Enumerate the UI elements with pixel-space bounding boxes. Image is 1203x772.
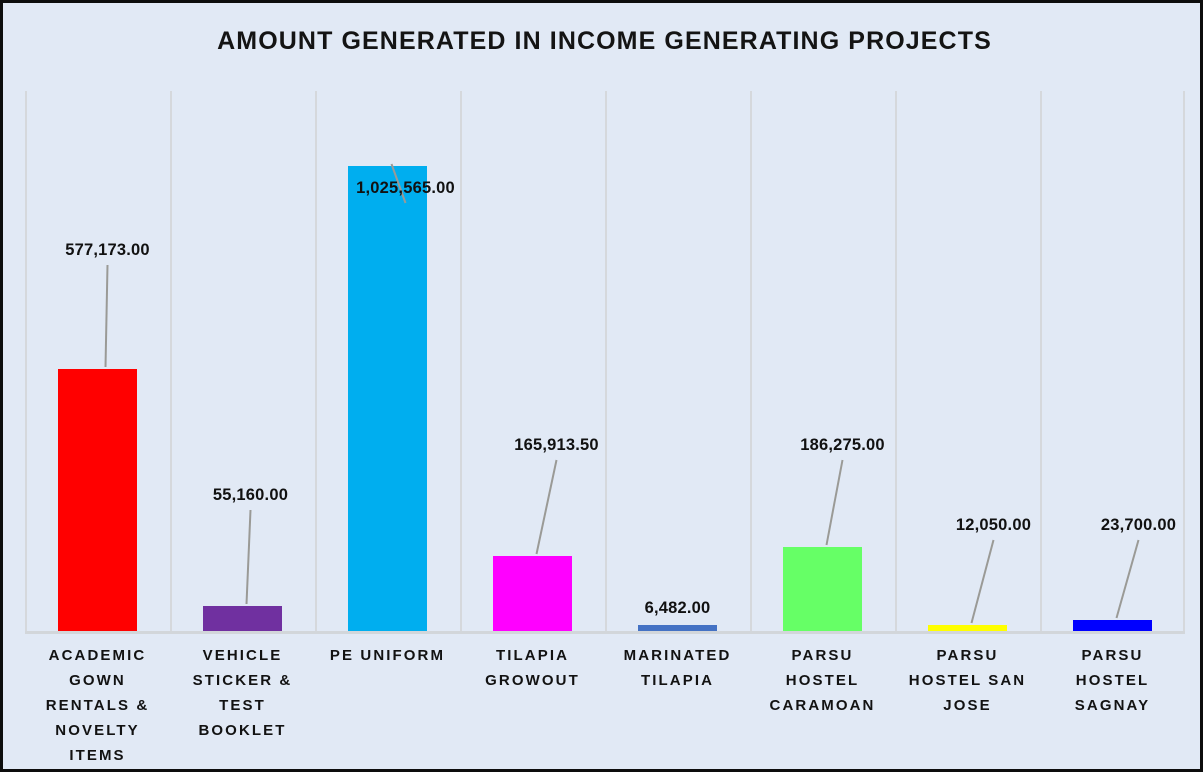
gridline (315, 91, 317, 631)
category-label-line: PE UNIFORM (315, 643, 460, 668)
category-label-line: TILAPIA (605, 668, 750, 693)
chart-title: AMOUNT GENERATED IN INCOME GENERATING PR… (3, 27, 1203, 56)
category-label: PARSUHOSTELCARAMOAN (750, 643, 895, 718)
chart-container: AMOUNT GENERATED IN INCOME GENERATING PR… (0, 0, 1203, 772)
bar[interactable] (493, 556, 572, 631)
category-label-line: HOSTEL SAN (895, 668, 1040, 693)
category-label-line: RENTALS & (25, 693, 170, 718)
gridline (25, 91, 27, 631)
category-label: TILAPIAGROWOUT (460, 643, 605, 693)
category-label-line: STICKER & (170, 668, 315, 693)
category-label-line: TILAPIA (460, 643, 605, 668)
gridline (895, 91, 897, 631)
category-label-line: VEHICLE (170, 643, 315, 668)
category-label-line: PARSU (895, 643, 1040, 668)
data-label: 6,482.00 (613, 599, 743, 618)
gridline (1040, 91, 1042, 631)
category-label: PE UNIFORM (315, 643, 460, 668)
bar[interactable] (638, 625, 717, 631)
bar[interactable] (783, 547, 862, 631)
bar[interactable] (1073, 620, 1152, 631)
category-label-line: GOWN (25, 668, 170, 693)
bar[interactable] (928, 625, 1007, 631)
category-label-line: NOVELTY (25, 718, 170, 743)
bar[interactable] (348, 166, 427, 631)
gridline (1183, 91, 1185, 631)
gridline (170, 91, 172, 631)
gridline (750, 91, 752, 631)
category-label-line: GROWOUT (460, 668, 605, 693)
category-label-line: ITEMS (25, 743, 170, 768)
category-label: VEHICLESTICKER &TESTBOOKLET (170, 643, 315, 743)
category-label-line: HOSTEL (1040, 668, 1185, 693)
plot-area: 577,173.0055,160.001,025,565.00165,913.5… (25, 91, 1185, 633)
data-label: 577,173.00 (43, 241, 173, 260)
category-label: ACADEMICGOWNRENTALS &NOVELTYITEMS (25, 643, 170, 768)
data-label: 23,700.00 (1074, 516, 1203, 535)
category-label-line: ACADEMIC (25, 643, 170, 668)
category-label-line: JOSE (895, 693, 1040, 718)
gridline (460, 91, 462, 631)
data-label: 186,275.00 (778, 436, 908, 455)
category-label-line: PARSU (750, 643, 895, 668)
category-label: PARSUHOSTEL SANJOSE (895, 643, 1040, 718)
data-label: 12,050.00 (929, 516, 1059, 535)
category-label-line: SAGNAY (1040, 693, 1185, 718)
category-label-line: PARSU (1040, 643, 1185, 668)
data-label: 55,160.00 (186, 486, 316, 505)
bar[interactable] (203, 606, 282, 631)
data-label: 1,025,565.00 (341, 179, 471, 198)
category-label: PARSUHOSTELSAGNAY (1040, 643, 1185, 718)
category-label-line: MARINATED (605, 643, 750, 668)
data-label: 165,913.50 (492, 436, 622, 455)
gridline (605, 91, 607, 631)
bar[interactable] (58, 369, 137, 631)
category-axis-line (25, 631, 1185, 634)
category-label-line: TEST (170, 693, 315, 718)
category-label-line: BOOKLET (170, 718, 315, 743)
category-label-line: HOSTEL (750, 668, 895, 693)
category-label-line: CARAMOAN (750, 693, 895, 718)
category-axis-labels: ACADEMICGOWNRENTALS &NOVELTYITEMSVEHICLE… (25, 643, 1185, 769)
category-label: MARINATEDTILAPIA (605, 643, 750, 693)
